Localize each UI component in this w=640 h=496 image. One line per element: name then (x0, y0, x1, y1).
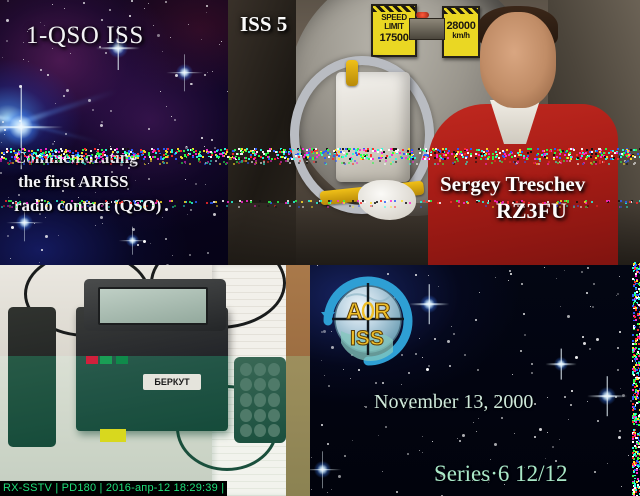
star (544, 267, 545, 268)
indicator-light (416, 12, 429, 18)
star (592, 306, 594, 308)
star (449, 365, 451, 367)
star (55, 103, 56, 104)
star (593, 283, 595, 285)
hazard-stripe (444, 8, 478, 14)
star (350, 378, 351, 379)
star (422, 452, 423, 453)
white-equipment-module (336, 72, 410, 182)
keypad-key[interactable] (268, 378, 280, 391)
star (100, 216, 103, 219)
star (187, 214, 188, 215)
wood-edge (286, 265, 310, 496)
star (619, 430, 621, 432)
star (54, 141, 55, 142)
star (99, 144, 100, 145)
star (479, 292, 480, 293)
radio-brand-label: БЕРКУТ (143, 374, 201, 390)
iss-crew-photo-panel: 28000 SPEED LIMIT 17500 28000 km/h ISS 5… (228, 0, 640, 265)
star (190, 83, 192, 85)
star (47, 74, 49, 76)
status-led-green (116, 356, 128, 364)
star (70, 53, 71, 54)
star (52, 4, 53, 5)
star (434, 338, 436, 340)
crew-name-label: Sergey Treschev (440, 172, 585, 197)
caption-line-2: the first ARISS (18, 172, 129, 192)
star (401, 384, 402, 385)
star (382, 382, 384, 384)
star (596, 338, 599, 341)
caption-line-1: Commemorating (14, 148, 138, 168)
sstv-image-frame[interactable]: 1-QSO ISS Commemorating the first ARISS … (0, 0, 640, 496)
star (616, 295, 617, 296)
star (150, 243, 151, 244)
star (110, 110, 112, 112)
star (478, 418, 479, 419)
star (132, 228, 135, 231)
star (432, 441, 433, 442)
star (188, 24, 189, 25)
star (201, 39, 202, 40)
star (170, 37, 171, 38)
star (462, 434, 465, 437)
star (328, 385, 330, 387)
star (101, 121, 103, 123)
star (375, 382, 377, 384)
star (382, 471, 383, 472)
star (552, 446, 554, 448)
star (2, 57, 3, 58)
star (636, 367, 638, 369)
transceiver-display (98, 287, 208, 325)
star (58, 235, 59, 236)
star (524, 334, 526, 336)
star (165, 208, 168, 211)
star (201, 137, 203, 139)
star (617, 293, 619, 295)
star (364, 406, 365, 407)
star-glint (2, 108, 40, 146)
star (205, 184, 206, 185)
status-led-red (86, 356, 98, 364)
star (213, 213, 216, 216)
star (34, 223, 35, 224)
star (619, 276, 620, 277)
star (539, 428, 542, 431)
star (477, 369, 479, 371)
star (39, 262, 40, 263)
star (547, 432, 548, 433)
star (157, 34, 160, 37)
star (40, 69, 42, 71)
star (331, 489, 332, 490)
star (453, 333, 455, 335)
star (617, 347, 619, 349)
star (451, 326, 452, 327)
star (457, 438, 458, 439)
star (426, 368, 429, 371)
star (63, 95, 65, 97)
star-glint (16, 214, 33, 231)
star (83, 2, 85, 4)
star (88, 99, 91, 102)
star (321, 424, 323, 426)
star (28, 61, 29, 62)
star (8, 197, 9, 198)
star (160, 91, 161, 92)
star (207, 72, 208, 73)
star (501, 417, 503, 419)
star (101, 19, 103, 21)
star (148, 3, 149, 4)
keypad-key[interactable] (268, 363, 280, 376)
star (568, 419, 569, 420)
star (594, 471, 596, 473)
velocity-sign: 28000 km/h (442, 6, 480, 58)
star (475, 319, 477, 321)
star (422, 436, 423, 437)
star (385, 426, 387, 428)
star (189, 254, 191, 256)
star (545, 458, 546, 459)
star (317, 265, 318, 266)
star (514, 433, 515, 434)
star (1, 142, 2, 143)
svg-text:A: A (346, 298, 363, 324)
star (109, 9, 111, 11)
star (473, 422, 474, 423)
star (628, 455, 629, 456)
star (622, 394, 625, 397)
star (531, 372, 533, 374)
star (547, 397, 548, 398)
star (105, 52, 107, 54)
star (327, 492, 328, 493)
star (619, 331, 621, 333)
star (52, 143, 54, 145)
star (206, 12, 207, 13)
ariss-logo-panel: A R ISS November 13, 2000 Series·6 12/12 (310, 265, 640, 496)
star (191, 83, 193, 85)
star (186, 146, 187, 147)
status-bar: RX-SSTV | PD180 | 2016-апр-12 18:29:39 | (0, 481, 227, 496)
status-led-green (100, 356, 112, 364)
star (135, 180, 136, 181)
star (212, 71, 213, 72)
star (148, 178, 150, 180)
star (575, 356, 578, 359)
star (102, 223, 103, 224)
star (534, 403, 536, 405)
star (2, 121, 4, 123)
keypad-key[interactable] (254, 424, 266, 437)
star (219, 44, 220, 45)
star-glint (420, 295, 438, 313)
star (570, 404, 572, 406)
panel-title-iss5: ISS 5 (240, 12, 287, 37)
star (162, 217, 163, 218)
star (490, 459, 491, 460)
page-title: 1-QSO ISS (26, 22, 144, 50)
star (512, 374, 513, 375)
star (23, 42, 24, 43)
star (100, 124, 103, 127)
star (148, 163, 149, 164)
star (311, 489, 312, 490)
star (464, 354, 466, 356)
keypad-key[interactable] (240, 363, 252, 376)
star (211, 139, 213, 141)
star (95, 225, 96, 226)
star (110, 146, 111, 147)
keypad-key[interactable] (240, 378, 252, 391)
handheld-radio (8, 307, 56, 447)
star (587, 267, 589, 269)
svg-text:ISS: ISS (350, 327, 384, 350)
star (508, 280, 509, 281)
star (476, 431, 477, 432)
star (144, 8, 145, 9)
keypad-key[interactable] (254, 378, 266, 391)
star (365, 406, 367, 408)
star (344, 455, 346, 457)
star (131, 0, 133, 2)
star (185, 179, 186, 180)
star (407, 453, 409, 455)
keypad-key[interactable] (268, 409, 280, 422)
star (92, 109, 94, 111)
star (617, 369, 619, 371)
yellow-arm (346, 60, 358, 86)
star (564, 396, 566, 398)
star (207, 252, 209, 254)
star (495, 277, 496, 278)
star (428, 365, 430, 367)
star-glint (126, 234, 139, 247)
contact-date-label: November 13, 2000 (374, 391, 533, 414)
star-glint (314, 461, 331, 478)
star (165, 1, 167, 3)
star (45, 217, 46, 218)
star (560, 306, 561, 307)
star (571, 390, 573, 392)
star (324, 375, 325, 376)
star (587, 401, 588, 402)
star (428, 275, 429, 276)
star (204, 74, 206, 76)
series-label: Series·6 12/12 (434, 461, 568, 487)
star (7, 0, 9, 2)
star (620, 388, 621, 389)
star-glint (598, 387, 616, 405)
star (174, 119, 176, 121)
star (582, 336, 584, 338)
star (137, 244, 139, 246)
star (143, 240, 146, 243)
keypad-key[interactable] (240, 393, 252, 406)
star (11, 226, 14, 229)
star (19, 120, 21, 122)
star (23, 59, 24, 60)
star (19, 85, 22, 88)
keypad-key[interactable] (240, 409, 252, 422)
keypad-key[interactable] (254, 393, 266, 406)
star (615, 396, 617, 398)
star (583, 342, 586, 345)
star (438, 286, 439, 287)
star (7, 235, 9, 237)
star (396, 491, 398, 493)
star (338, 475, 341, 478)
dtmf-microphone (234, 357, 286, 443)
star (6, 19, 9, 22)
star (10, 258, 11, 259)
light-beam (0, 112, 99, 144)
star (166, 106, 167, 107)
star (162, 51, 163, 52)
star (630, 400, 632, 402)
star (65, 133, 67, 135)
star (510, 273, 512, 275)
star (494, 443, 497, 446)
keypad-key[interactable] (268, 393, 280, 406)
star (172, 255, 173, 256)
star (6, 40, 8, 42)
star (523, 313, 525, 315)
star (590, 306, 591, 307)
star-glint (176, 64, 193, 81)
star (204, 146, 205, 147)
mic-keypad[interactable] (240, 363, 280, 437)
star (148, 128, 150, 130)
star (419, 450, 420, 451)
star (175, 74, 178, 77)
star (589, 348, 591, 350)
wall-control-box (409, 18, 445, 40)
star (64, 8, 65, 9)
star (509, 270, 511, 272)
star (618, 436, 621, 439)
star (531, 363, 533, 365)
sign-right-text-2: km/h (444, 32, 478, 41)
star (4, 129, 6, 131)
star (459, 440, 461, 442)
ariss-logo: A R ISS (316, 269, 420, 373)
yellow-connector-tag (100, 429, 126, 442)
svg-text:R: R (374, 298, 391, 324)
star (352, 440, 353, 441)
star (190, 209, 192, 211)
star (129, 15, 131, 17)
keypad-key[interactable] (254, 409, 266, 422)
star (165, 238, 167, 240)
keypad-key[interactable] (240, 424, 252, 437)
keypad-key[interactable] (268, 424, 280, 437)
star (185, 163, 186, 164)
star (447, 340, 450, 343)
star (195, 183, 197, 185)
keypad-key[interactable] (254, 363, 266, 376)
star (41, 249, 43, 251)
star (586, 292, 588, 294)
caption-line-3: radio contact (QSO) (14, 196, 161, 216)
star (581, 271, 583, 273)
star (214, 147, 216, 149)
star (597, 420, 599, 422)
star (422, 357, 423, 358)
crew-callsign-label: RZ3FU (496, 198, 567, 224)
star (520, 350, 522, 352)
hazard-stripe (373, 6, 415, 12)
star (556, 278, 557, 279)
star (45, 235, 48, 238)
star (4, 134, 5, 135)
star (153, 25, 154, 26)
star (564, 270, 565, 271)
star (221, 41, 222, 42)
star (0, 172, 2, 174)
star (521, 283, 523, 285)
star (621, 486, 622, 487)
star (567, 315, 570, 318)
star (185, 146, 188, 149)
star (171, 116, 172, 117)
star-glint (554, 357, 568, 371)
star (327, 443, 329, 445)
star (607, 463, 608, 464)
star (534, 436, 536, 438)
star (95, 192, 96, 193)
star (559, 439, 560, 440)
star (206, 5, 208, 7)
star (66, 89, 69, 92)
crew-face (480, 12, 556, 108)
star (311, 457, 312, 458)
space-nebula-panel: 1-QSO ISS Commemorating the first ARISS … (0, 0, 228, 265)
light-beam (0, 89, 117, 140)
star (378, 435, 379, 436)
